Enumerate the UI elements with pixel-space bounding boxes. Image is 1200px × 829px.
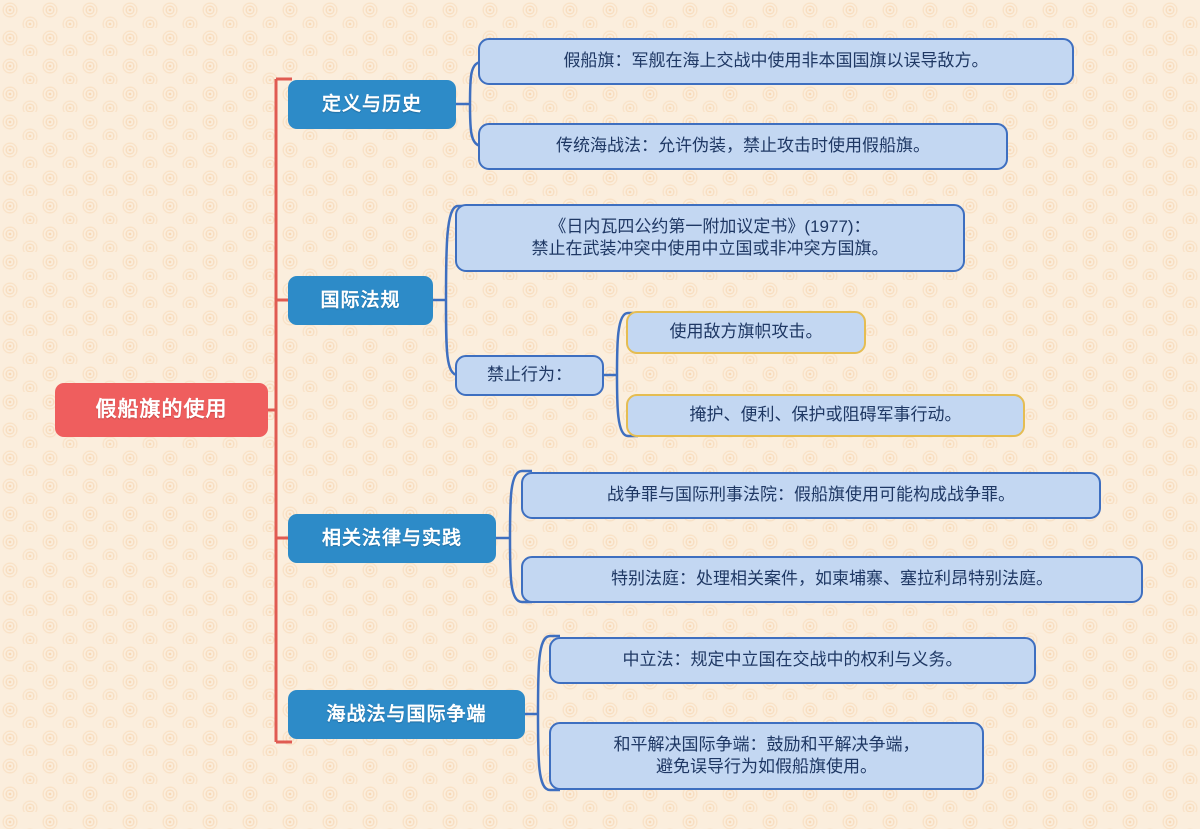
leaf-label: 战争罪与国际刑事法院：假船旗使用可能构成战争罪。 (607, 484, 1015, 506)
leaf-label: 假船旗：军舰在海上交战中使用非本国国旗以误导敌方。 (564, 50, 989, 72)
branch-node-definition-history[interactable]: 定义与历史 (288, 80, 456, 129)
leaf-label: 禁止行为： (487, 364, 572, 386)
leaf-label: 掩护、便利、保护或阻碍军事行动。 (690, 404, 962, 426)
root-node-label: 假船旗的使用 (96, 396, 228, 424)
leaf-node-false-flag-def[interactable]: 假船旗：军舰在海上交战中使用非本国国旗以误导敌方。 (478, 38, 1074, 85)
leaf-node-peaceful-settlement[interactable]: 和平解决国际争端：鼓励和平解决争端， 避免误导行为如假船旗使用。 (549, 722, 984, 790)
branch-node-related-laws-practice[interactable]: 相关法律与实践 (288, 514, 496, 563)
branch-label: 海战法与国际争端 (326, 702, 486, 727)
leaf-node-special-tribunals[interactable]: 特别法庭：处理相关案件，如柬埔寨、塞拉利昂特别法庭。 (521, 556, 1143, 603)
leaf-node-prohibited-act-cover[interactable]: 掩护、便利、保护或阻碍军事行动。 (626, 394, 1025, 437)
branch-label: 相关法律与实践 (322, 526, 462, 551)
mindmap-canvas: 假船旗的使用 定义与历史 假船旗：军舰在海上交战中使用非本国国旗以误导敌方。 传… (0, 0, 1200, 829)
branch-label: 定义与历史 (322, 92, 422, 117)
root-node[interactable]: 假船旗的使用 (55, 383, 268, 437)
branch-node-naval-law-disputes[interactable]: 海战法与国际争端 (288, 690, 525, 739)
leaf-label: 中立法：规定中立国在交战中的权利与义务。 (623, 649, 963, 671)
branch-label: 国际法规 (320, 288, 400, 313)
leaf-node-war-crimes-icc[interactable]: 战争罪与国际刑事法院：假船旗使用可能构成战争罪。 (521, 472, 1101, 519)
leaf-label: 特别法庭：处理相关案件，如柬埔寨、塞拉利昂特别法庭。 (611, 568, 1053, 590)
leaf-label: 《日内瓦四公约第一附加议定书》(1977)： 禁止在武装冲突中使用中立国或非冲突… (532, 216, 889, 261)
branch-node-international-regulations[interactable]: 国际法规 (288, 276, 433, 325)
leaf-node-traditional-naval-law[interactable]: 传统海战法：允许伪装，禁止攻击时使用假船旗。 (478, 123, 1008, 170)
leaf-node-prohibited-act-enemy-flag[interactable]: 使用敌方旗帜攻击。 (626, 311, 866, 354)
leaf-label: 使用敌方旗帜攻击。 (670, 321, 823, 343)
leaf-label: 和平解决国际争端：鼓励和平解决争端， 避免误导行为如假船旗使用。 (614, 734, 920, 779)
leaf-node-prohibited-acts[interactable]: 禁止行为： (455, 355, 604, 396)
leaf-label: 传统海战法：允许伪装，禁止攻击时使用假船旗。 (556, 135, 930, 157)
leaf-node-neutrality-law[interactable]: 中立法：规定中立国在交战中的权利与义务。 (549, 637, 1036, 684)
leaf-node-geneva-protocol-1[interactable]: 《日内瓦四公约第一附加议定书》(1977)： 禁止在武装冲突中使用中立国或非冲突… (455, 204, 965, 272)
